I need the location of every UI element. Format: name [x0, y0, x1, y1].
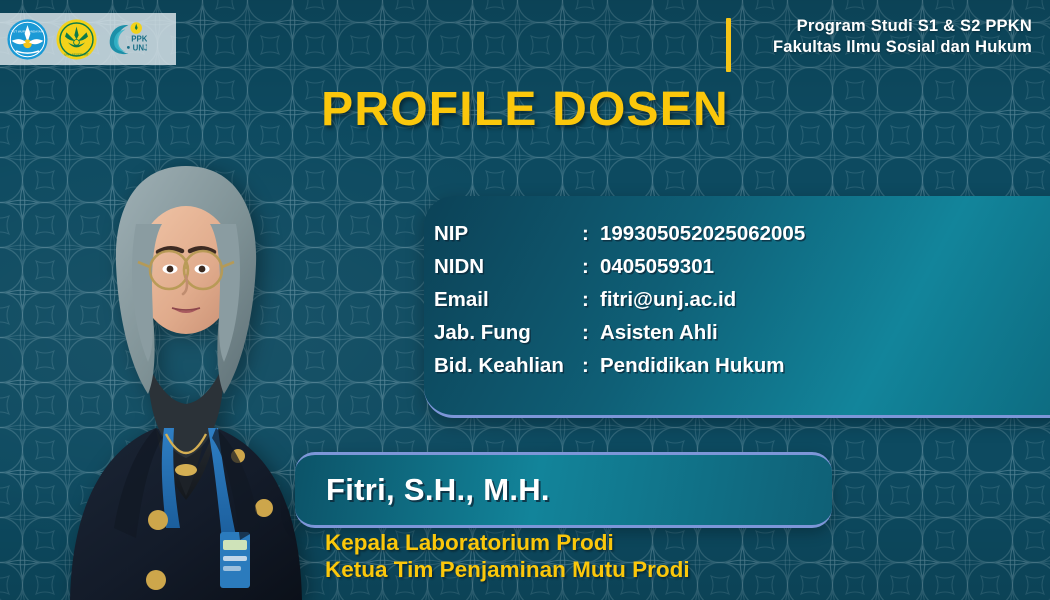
header-line-faculty: Fakultas Ilmu Sosial dan Hukum	[773, 37, 1032, 58]
info-label-jabatan-fungsional: Jab. Fung	[434, 317, 582, 348]
header-accent-bar	[726, 18, 731, 72]
ppkn-unj-logo: PPKN UNJ	[104, 18, 147, 61]
tut-wuri-handayani-logo: TUT WURI HANDAYANI	[6, 18, 49, 61]
info-value-email[interactable]: fitri@unj.ac.id	[600, 284, 736, 315]
info-row-email: Email : fitri@unj.ac.id	[434, 284, 1050, 315]
info-colon: :	[582, 350, 600, 381]
svg-text:UNJ: UNJ	[133, 43, 147, 52]
info-colon: :	[582, 251, 600, 282]
info-value-nip: 199305052025062005	[600, 218, 805, 249]
slide-canvas: TUT WURI HANDAYANI UNIV NEGERI JKT PPKN …	[0, 0, 1050, 600]
info-label-nip: NIP	[434, 218, 582, 249]
info-colon: :	[582, 317, 600, 348]
info-value-nidn: 0405059301	[600, 251, 714, 282]
institution-logo-panel: TUT WURI HANDAYANI UNIV NEGERI JKT PPKN …	[0, 13, 176, 65]
svg-text:TUT WURI HANDAYANI: TUT WURI HANDAYANI	[11, 29, 44, 33]
role-line-2: Ketua Tim Penjaminan Mutu Prodi	[325, 556, 690, 583]
lecturer-name: Fitri, S.H., M.H.	[326, 472, 550, 508]
info-colon: :	[582, 284, 600, 315]
svg-text:PPKN: PPKN	[131, 34, 147, 43]
role-line-1: Kepala Laboratorium Prodi	[325, 529, 690, 556]
header-title-block: Program Studi S1 & S2 PPKN Fakultas Ilmu…	[773, 16, 1032, 59]
info-value-bidang-keahlian: Pendidikan Hukum	[600, 350, 785, 381]
lecturer-name-banner: Fitri, S.H., M.H.	[295, 452, 832, 528]
info-row-bidang-keahlian: Bid. Keahlian : Pendidikan Hukum	[434, 350, 1050, 381]
lecturer-roles: Kepala Laboratorium Prodi Ketua Tim Penj…	[325, 529, 690, 583]
info-row-nidn: NIDN : 0405059301	[434, 251, 1050, 282]
info-label-nidn: NIDN	[434, 251, 582, 282]
info-label-bidang-keahlian: Bid. Keahlian	[434, 350, 582, 381]
info-row-list: NIP : 199305052025062005 NIDN : 04050593…	[434, 218, 1050, 381]
lecturer-portrait	[52, 128, 320, 600]
info-label-email: Email	[434, 284, 582, 315]
lecturer-info-card: NIP : 199305052025062005 NIDN : 04050593…	[424, 196, 1050, 418]
info-row-nip: NIP : 199305052025062005	[434, 218, 1050, 249]
info-colon: :	[582, 218, 600, 249]
unj-logo: UNIV NEGERI JKT	[55, 18, 98, 61]
header-line-program: Program Studi S1 & S2 PPKN	[773, 16, 1032, 37]
info-value-jabatan-fungsional: Asisten Ahli	[600, 317, 718, 348]
page-title: PROFILE DOSEN	[0, 82, 1050, 137]
info-row-jabatan-fungsional: Jab. Fung : Asisten Ahli	[434, 317, 1050, 348]
svg-text:UNIV NEGERI JKT: UNIV NEGERI JKT	[64, 52, 89, 56]
